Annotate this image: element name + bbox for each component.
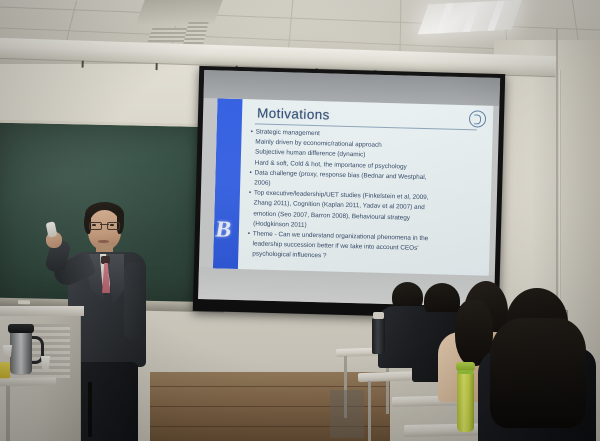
lectern-top-surface bbox=[0, 306, 84, 316]
dark-bottle-cap bbox=[373, 312, 384, 319]
dark-tumbler-bottle bbox=[372, 318, 385, 354]
circular-institution-logo-icon bbox=[469, 110, 486, 127]
side-table-leg bbox=[6, 386, 10, 441]
presentation-slide: B Motivations Strategic managementMainly… bbox=[213, 98, 493, 275]
presenter-trousers bbox=[76, 362, 138, 441]
presenter-eye-left bbox=[92, 224, 96, 226]
yellow-green-water-bottle bbox=[457, 370, 474, 432]
ceiling-duct bbox=[135, 0, 222, 26]
slide-title: Motivations bbox=[257, 105, 330, 122]
fluorescent-light-icon bbox=[418, 0, 522, 34]
screen-surface: B Motivations Strategic managementMainly… bbox=[198, 70, 500, 307]
wall-conduit-pipe bbox=[558, 70, 561, 316]
stainless-steel-thermos bbox=[10, 330, 32, 374]
thermos-lid bbox=[8, 324, 34, 333]
presenter-leg-gap bbox=[88, 382, 92, 437]
yellow-carton bbox=[0, 362, 10, 379]
audience-4-hair-fall bbox=[490, 318, 586, 428]
chair-shadow bbox=[330, 390, 364, 438]
slide-accent-band: B bbox=[213, 98, 243, 269]
presenter-eye-right bbox=[110, 224, 114, 226]
presenter-tie-knot bbox=[101, 256, 110, 264]
slide-body-text: Strategic managementMainly driven by eco… bbox=[247, 127, 489, 266]
desk-leg-3 bbox=[368, 381, 371, 441]
projection-screen: B Motivations Strategic managementMainly… bbox=[193, 66, 506, 319]
presenter-right-arm bbox=[124, 262, 146, 340]
presenter-mouth bbox=[98, 240, 109, 243]
lecture-hall-photo: B Motivations Strategic managementMainly… bbox=[0, 0, 600, 441]
slide-band-logo-icon: B bbox=[214, 216, 244, 243]
